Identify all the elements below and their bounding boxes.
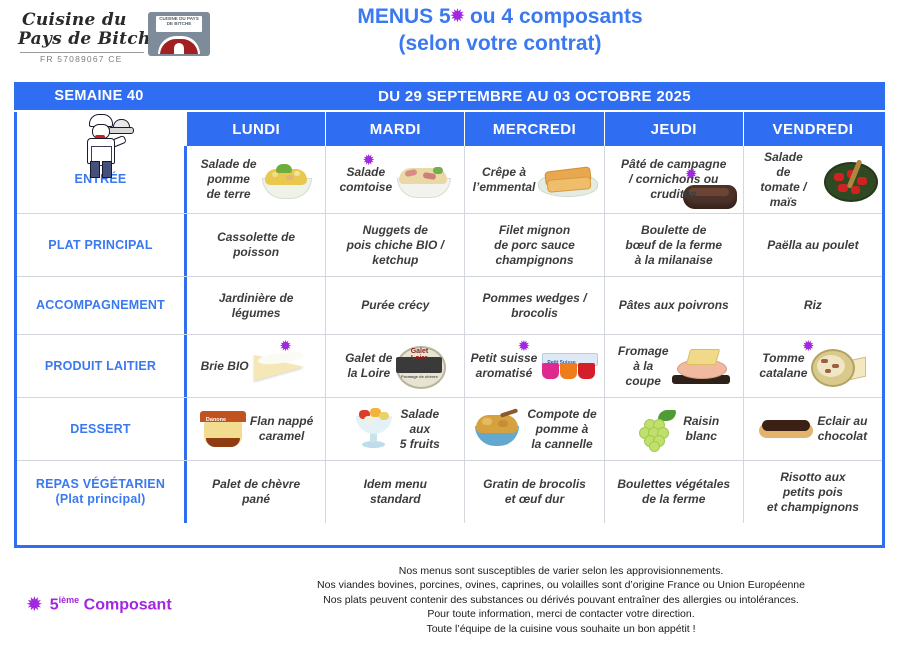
dish-text: Tommecatalane xyxy=(759,351,807,381)
menu-cell-entree-jeudi[interactable]: ✹ Pâté de campagne/ cornichons oucrudité… xyxy=(605,146,744,213)
menu-cell-plat-lundi[interactable]: Cassolette depoisson xyxy=(187,214,326,276)
dish-text: Saladeaux5 fruits xyxy=(400,407,440,452)
day-header-jeudi: JEUDI xyxy=(605,112,744,146)
footer-note-line: Pour toute information, merci de contact… xyxy=(236,607,886,621)
comtoise-salad-icon xyxy=(395,163,451,197)
dish-text: Crêpe àl’emmental xyxy=(473,165,536,195)
week-band: SEMAINE 40 DU 29 SEPTEMBRE AU 03 OCTOBRE… xyxy=(14,82,885,110)
dish-text: Boulette debœuf de la fermeà la milanais… xyxy=(625,223,722,268)
stamp-label: CUISINE DU PAYS DE BITCHE xyxy=(157,16,201,27)
day-header-lundi: LUNDI xyxy=(187,112,326,146)
menu-cell-dessert-jeudi[interactable]: Raisinblanc xyxy=(605,398,744,460)
dish-text: Paëlla au poulet xyxy=(767,238,858,253)
dish-text: Petit suissearomatisé xyxy=(471,351,538,381)
page-header: Cuisine du Pays de Bitche FR 57089067 CE… xyxy=(0,0,899,78)
footer-notes: Nos menus sont susceptibles de varier se… xyxy=(236,564,886,636)
caramel-flan-icon: Danone xyxy=(199,409,247,449)
menu-row-dessert: DESSERT Danone Flan nappécaramel Saladea… xyxy=(17,398,882,461)
dish-text: Palet de chèvrepané xyxy=(212,477,300,507)
brand-logo: Cuisine du Pays de Bitche FR 57089067 CE… xyxy=(18,8,193,70)
menu-cell-laitier-mardi[interactable]: Galet dela Loire GaletLoireFromage de ch… xyxy=(326,335,465,397)
cut-cheese-icon xyxy=(672,347,730,385)
menu-cell-accompagnement-mercredi[interactable]: Pommes wedges /brocolis xyxy=(465,277,604,334)
dish-text: Raisinblanc xyxy=(683,414,719,444)
five-component-star-icon: ✹ xyxy=(26,595,43,615)
apple-compote-icon xyxy=(472,410,524,448)
footer-note-line: Nos plats peuvent contenir des substance… xyxy=(236,593,886,607)
row-label-repas-vegetarien: REPAS VÉGÉTARIEN(Plat principal) xyxy=(17,461,187,523)
chef-mascot-cell xyxy=(17,112,187,146)
menu-cell-laitier-vendredi[interactable]: ✹ Tommecatalane xyxy=(744,335,882,397)
five-component-star-icon: ✹ xyxy=(802,340,815,353)
dish-text: Idem menustandard xyxy=(364,477,427,507)
row-label-dessert: DESSERT xyxy=(17,398,187,460)
dish-text: Pommes wedges /brocolis xyxy=(482,291,586,321)
dish-text: Jardinière delégumes xyxy=(219,291,294,321)
menu-cell-entree-mardi[interactable]: ✹ Saladecomtoise xyxy=(326,146,465,213)
five-component-star-icon: ✹ xyxy=(685,168,698,181)
menu-cell-plat-vendredi[interactable]: Paëlla au poulet xyxy=(744,214,882,276)
dish-text: Compote depomme àla cannelle xyxy=(527,407,596,452)
menu-cell-laitier-mercredi[interactable]: ✹ Petit suissearomatisé Petit Suisse xyxy=(465,335,604,397)
brand-approval-code: FR 57089067 CE xyxy=(40,54,122,64)
menu-cell-entree-mercredi[interactable]: Crêpe àl’emmental xyxy=(465,146,604,213)
page-title: MENUS 5✹ ou 4 composants (selon votre co… xyxy=(300,3,700,57)
row-label-produit-laitier: PRODUIT LAITIER xyxy=(17,335,187,397)
menu-cell-plat-jeudi[interactable]: Boulette debœuf de la fermeà la milanais… xyxy=(605,214,744,276)
menu-row-accompagnement: ACCOMPAGNEMENT Jardinière delégumes Puré… xyxy=(17,277,882,335)
menu-cell-accompagnement-lundi[interactable]: Jardinière delégumes xyxy=(187,277,326,334)
title-line2: (selon votre contrat) xyxy=(398,32,601,55)
legend-label: 5ième Composant xyxy=(50,595,172,614)
menu-row-produit-laitier: PRODUIT LAITIER ✹ Brie BIO Galet dela Lo… xyxy=(17,335,882,398)
footer-note-line: Nos menus sont susceptibles de varier se… xyxy=(236,564,886,578)
menu-cell-laitier-jeudi[interactable]: Fromageà lacoupe xyxy=(605,335,744,397)
five-component-star-icon: ✹ xyxy=(362,154,375,167)
legend-five-component: ✹ 5ième Composant xyxy=(26,588,236,622)
dish-text: Boulettes végétalesde la ferme xyxy=(617,477,730,507)
menu-cell-laitier-lundi[interactable]: ✹ Brie BIO xyxy=(187,335,326,397)
dish-text: Saladecomtoise xyxy=(339,165,392,195)
chef-waiter-icon xyxy=(75,114,135,178)
legend-ordinal: ième xyxy=(59,595,80,605)
menu-cell-entree-lundi[interactable]: Salade depommede terre xyxy=(187,146,326,213)
week-number: SEMAINE 40 xyxy=(14,88,184,104)
dish-text: Eclair auchocolat xyxy=(817,414,867,444)
tomato-salad-icon xyxy=(822,160,878,200)
white-grapes-icon xyxy=(628,410,680,448)
dish-text: Risotto auxpetits poiset champignons xyxy=(767,470,859,515)
galet-de-loire-icon: GaletLoireFromage de chèvre xyxy=(395,345,445,387)
menu-cell-vegetarien-jeudi[interactable]: Boulettes végétalesde la ferme xyxy=(605,461,744,523)
day-header-mercredi: MERCREDI xyxy=(465,112,604,146)
dish-text: Cassolette depoisson xyxy=(217,230,295,260)
dish-text: Gratin de brocoliset œuf dur xyxy=(483,477,586,507)
dish-text: Brie BIO xyxy=(201,359,249,374)
dish-text: Filet mignonde porc saucechampignons xyxy=(494,223,575,268)
day-header-row: LUNDI MARDI MERCREDI JEUDI VENDREDI xyxy=(17,112,882,146)
dish-text: Flan nappécaramel xyxy=(250,414,313,444)
legend-number: 5 xyxy=(50,597,59,614)
five-component-star-icon: ✹ xyxy=(517,340,530,353)
menu-row-plat-principal: PLAT PRINCIPAL Cassolette depoisson Nugg… xyxy=(17,214,882,277)
legend-word: Composant xyxy=(84,597,172,614)
day-header-vendredi: VENDREDI xyxy=(744,112,882,146)
tomme-cheese-icon xyxy=(810,347,866,385)
menu-cell-vegetarien-mardi[interactable]: Idem menustandard xyxy=(326,461,465,523)
menu-cell-accompagnement-vendredi[interactable]: Riz xyxy=(744,277,882,334)
menu-page: Cuisine du Pays de Bitche FR 57089067 CE… xyxy=(0,0,899,660)
menu-cell-entree-vendredi[interactable]: Saladedetomate / maïs xyxy=(744,146,882,213)
menu-cell-dessert-mardi[interactable]: Saladeaux5 fruits xyxy=(326,398,465,460)
fruit-salad-cup-icon xyxy=(351,408,397,450)
dish-text: Salade depommede terre xyxy=(201,157,257,202)
menu-row-entree: ENTRÉE Salade depommede terre ✹ Saladeco… xyxy=(17,146,882,214)
dish-text: Saladedetomate / maïs xyxy=(748,150,819,210)
menu-cell-plat-mercredi[interactable]: Filet mignonde porc saucechampignons xyxy=(465,214,604,276)
dish-text: Pâté de campagne/ cornichons oucrudités xyxy=(621,157,726,202)
menu-cell-dessert-vendredi[interactable]: Eclair auchocolat xyxy=(744,398,882,460)
row-label-plat-principal: PLAT PRINCIPAL xyxy=(17,214,187,276)
menu-cell-dessert-lundi[interactable]: Danone Flan nappécaramel xyxy=(187,398,326,460)
menu-cell-dessert-mercredi[interactable]: Compote depomme àla cannelle xyxy=(465,398,604,460)
brand-rule xyxy=(20,52,144,53)
title-line1-after: ou 4 composants xyxy=(464,5,643,28)
dish-text: Nuggets depois chiche BIO /ketchup xyxy=(347,223,444,268)
five-component-star-icon: ✹ xyxy=(451,8,464,25)
bitche-citadel-stamp-icon: CUISINE DU PAYS DE BITCHE xyxy=(148,12,210,56)
day-header-mardi: MARDI xyxy=(326,112,465,146)
menu-cell-accompagnement-jeudi[interactable]: Pâtes aux poivrons xyxy=(605,277,744,334)
row-label-accompagnement: ACCOMPAGNEMENT xyxy=(17,277,187,334)
dish-text: Galet dela Loire xyxy=(345,351,392,381)
menu-cell-vegetarien-lundi[interactable]: Palet de chèvrepané xyxy=(187,461,326,523)
brand-line2: Pays de Bitche xyxy=(18,29,162,49)
menu-cell-vegetarien-mercredi[interactable]: Gratin de brocoliset œuf dur xyxy=(465,461,604,523)
crepe-emmental-icon xyxy=(538,163,596,197)
petit-suisse-pack-icon: Petit Suisse xyxy=(540,349,598,383)
menu-table: LUNDI MARDI MERCREDI JEUDI VENDREDI ENTR… xyxy=(14,112,885,548)
week-date-range: DU 29 SEPTEMBRE AU 03 OCTOBRE 2025 xyxy=(184,88,885,105)
dish-text: Pâtes aux poivrons xyxy=(619,298,729,313)
menu-row-repas-vegetarien: REPAS VÉGÉTARIEN(Plat principal) Palet d… xyxy=(17,461,882,523)
menu-cell-plat-mardi[interactable]: Nuggets depois chiche BIO /ketchup xyxy=(326,214,465,276)
bowl-potato-salad-icon xyxy=(260,162,312,198)
footer-note-line: Toute l’équipe de la cuisine vous souhai… xyxy=(236,622,886,636)
dish-text: Fromageà lacoupe xyxy=(618,344,669,389)
menu-cell-accompagnement-mardi[interactable]: Purée crécy xyxy=(326,277,465,334)
chocolate-eclair-icon xyxy=(758,416,814,442)
dish-text: Purée crécy xyxy=(361,298,429,313)
menu-cell-vegetarien-vendredi[interactable]: Risotto auxpetits poiset champignons xyxy=(744,461,882,523)
footer-note-line: Nos viandes bovines, porcines, ovines, c… xyxy=(236,578,886,592)
dish-text: Riz xyxy=(804,298,822,313)
five-component-star-icon: ✹ xyxy=(279,340,292,353)
title-line1-before: MENUS 5 xyxy=(357,5,450,28)
brand-line1: Cuisine du xyxy=(22,10,127,30)
